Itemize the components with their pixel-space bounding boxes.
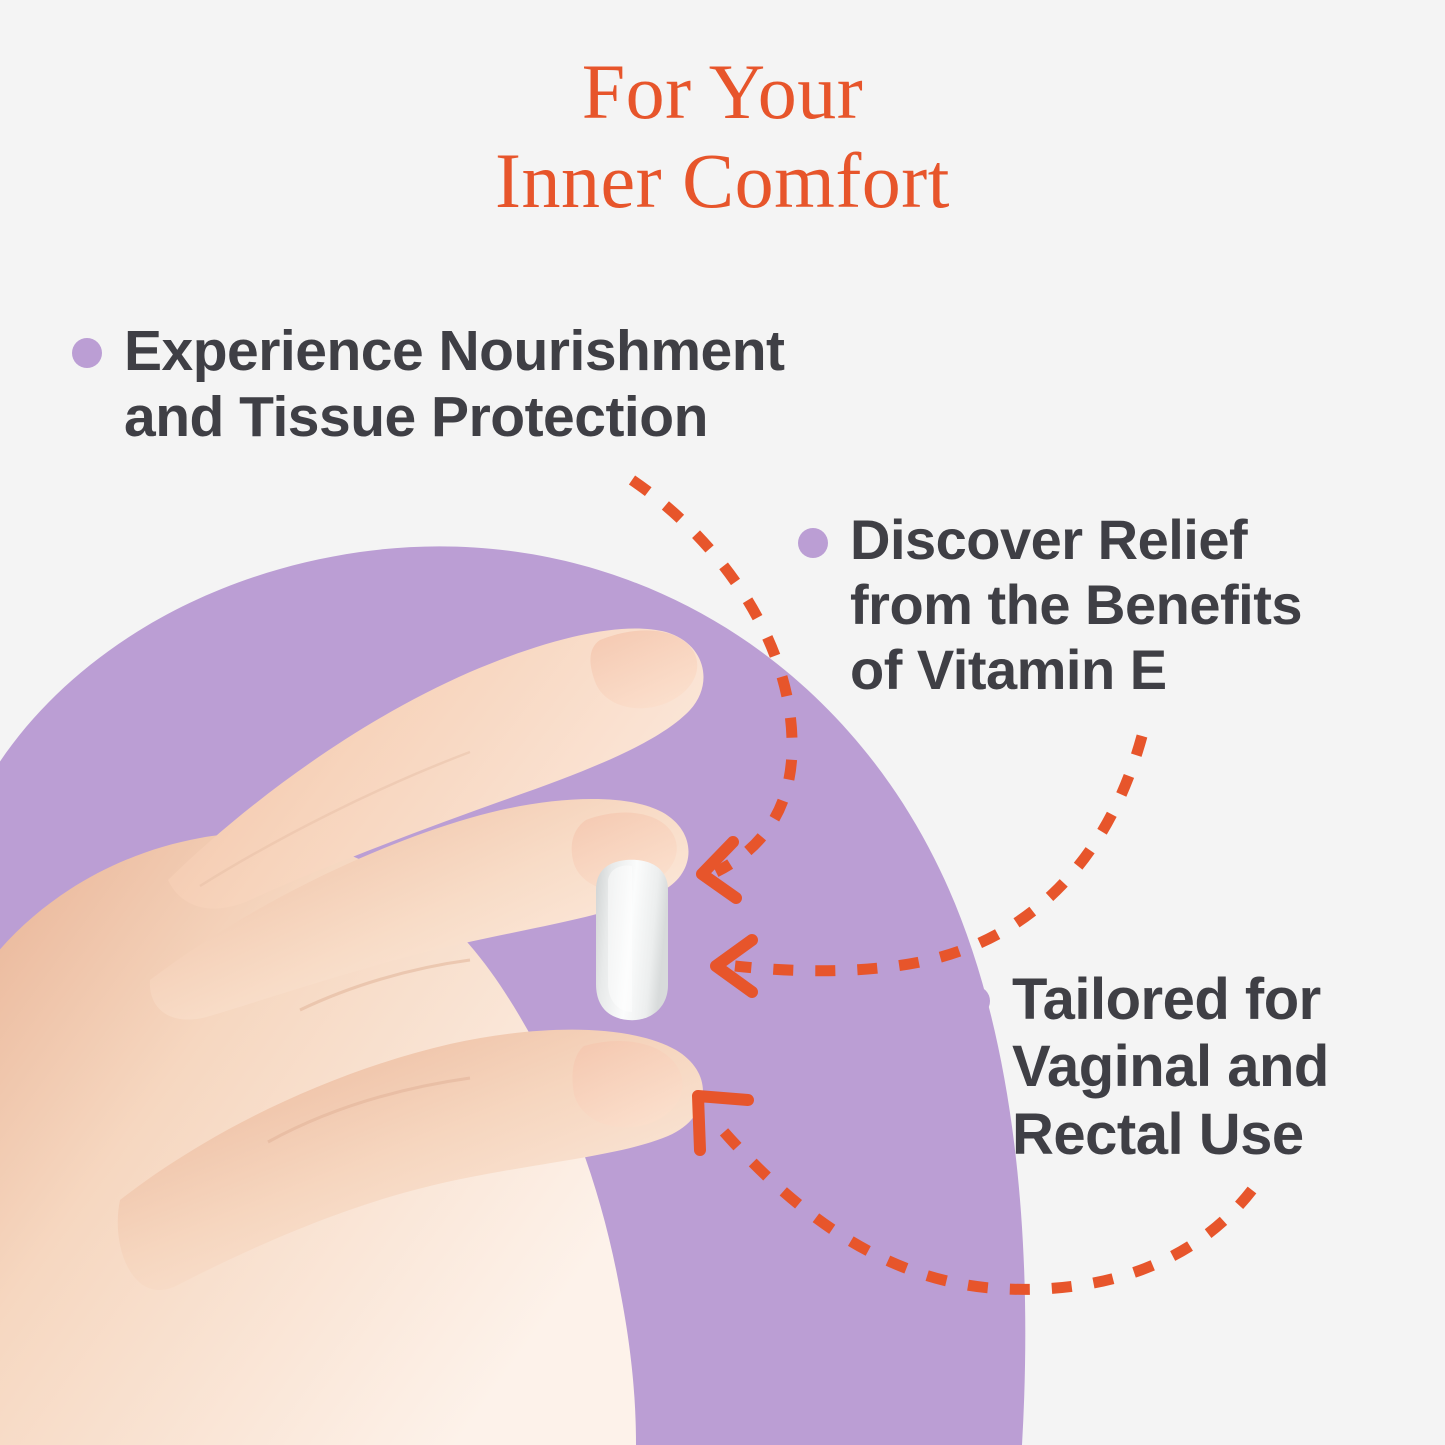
benefit-item-nourishment: Experience Nourishment and Tissue Protec… bbox=[72, 318, 785, 450]
benefit-item-vitamin-e: Discover Relief from the Benefits of Vit… bbox=[798, 508, 1302, 703]
white-suppository-pill bbox=[596, 860, 668, 1020]
benefit-line: Experience Nourishment bbox=[124, 318, 785, 384]
page-title: For Your Inner Comfort bbox=[0, 48, 1445, 226]
benefit-line: Discover Relief bbox=[850, 508, 1302, 573]
infographic-canvas: For Your Inner Comfort Experience Nouris… bbox=[0, 0, 1445, 1445]
arrow-2-vitamin-e bbox=[716, 736, 1142, 992]
bullet-dot-icon bbox=[960, 986, 990, 1016]
benefit-text: Discover Relief from the Benefits of Vit… bbox=[850, 508, 1302, 703]
benefit-text: Tailored for Vaginal and Rectal Use bbox=[1012, 966, 1329, 1168]
benefit-line: of Vitamin E bbox=[850, 638, 1302, 703]
benefit-line: Rectal Use bbox=[1012, 1101, 1329, 1168]
benefit-item-usage: Tailored for Vaginal and Rectal Use bbox=[960, 966, 1329, 1168]
benefit-line: from the Benefits bbox=[850, 573, 1302, 638]
benefit-line: Vaginal and bbox=[1012, 1033, 1329, 1100]
benefit-line: Tailored for bbox=[1012, 966, 1329, 1033]
bullet-dot-icon bbox=[798, 528, 828, 558]
title-line-1: For Your bbox=[0, 48, 1445, 137]
bullet-dot-icon bbox=[72, 338, 102, 368]
arrow-1-nourishment bbox=[632, 480, 792, 898]
benefit-text: Experience Nourishment and Tissue Protec… bbox=[124, 318, 785, 450]
title-line-2: Inner Comfort bbox=[0, 137, 1445, 226]
benefit-line: and Tissue Protection bbox=[124, 384, 785, 450]
